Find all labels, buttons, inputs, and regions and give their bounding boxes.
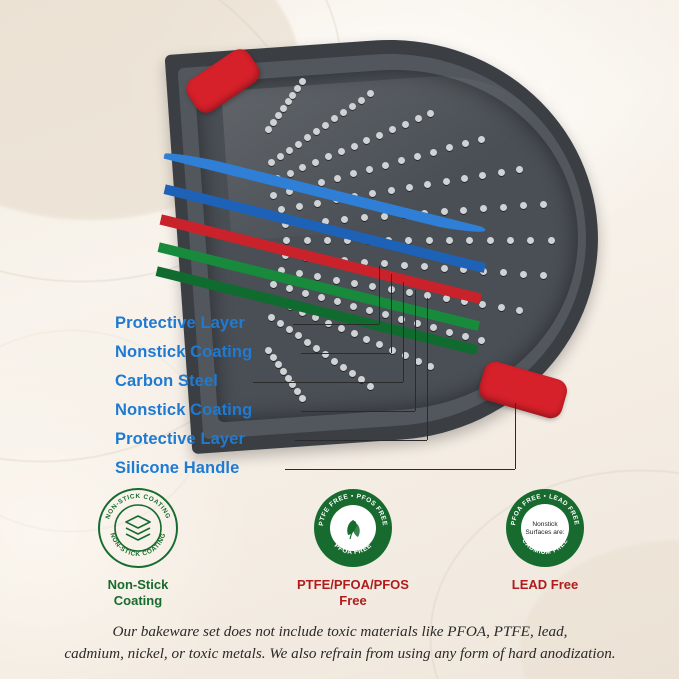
perforation-hole (478, 136, 485, 143)
badge-caption-ptfe-pfoa-pfos-free: PTFE/PFOA/PFOS Free (258, 577, 448, 610)
disclaimer-line2: cadmium, nickel, or toxic metals. We als… (64, 645, 615, 662)
perforation-hole (540, 201, 547, 208)
perforation-hole (466, 237, 473, 244)
perforation-hole (312, 159, 319, 166)
callout-carbon-steel: Carbon Steel (115, 372, 218, 391)
perforation-hole (401, 262, 408, 269)
perforation-hole (507, 237, 514, 244)
svg-text:NON-STICK COATING: NON-STICK COATING (109, 532, 168, 558)
perforation-hole (376, 132, 383, 139)
disclaimer-text: Our bakeware set does not include toxic … (40, 621, 640, 665)
perforation-hole (304, 134, 311, 141)
perforation-hole (275, 112, 282, 119)
perforation-hole (405, 237, 412, 244)
perforation-hole (322, 122, 329, 129)
perforation-hole (351, 143, 358, 150)
perforation-hole (421, 263, 428, 270)
leader-line-5 (295, 440, 427, 441)
leader-riser-5 (427, 298, 428, 440)
perforation-hole (287, 170, 294, 177)
leader-riser-2 (391, 274, 392, 353)
seal-ptfe-pfoa-pfos-free: PTFE FREE • PFOS FREE PFOA FREE (312, 487, 394, 569)
perforation-hole (382, 162, 389, 169)
badge-caption-line1: PTFE/PFOA/PFOS (297, 577, 409, 592)
seal-lead-free: PFOA FREE • LEAD FREE CADMIUM FREE Nonst… (504, 487, 586, 569)
perforation-hole (268, 159, 275, 166)
lead-free-icon: PFOA FREE • LEAD FREE CADMIUM FREE Nonst… (504, 487, 586, 569)
perforation-hole (487, 237, 494, 244)
perforation-hole (314, 200, 321, 207)
leader-riser-6 (515, 403, 516, 469)
perforation-hole (324, 237, 331, 244)
badge-non-stick-coating: NON-STICK COATING NON-STICK COATING Non-… (43, 487, 233, 610)
leaves-icon: PTFE FREE • PFOS FREE PFOA FREE (312, 487, 394, 569)
perforation-hole (278, 206, 285, 213)
perforation-hole (369, 283, 376, 290)
perforation-hole (415, 115, 422, 122)
badge-caption-line2: Free (339, 593, 366, 608)
leader-riser-3 (403, 282, 404, 382)
perforation-hole (406, 289, 413, 296)
stacked-layers-icon: NON-STICK COATING NON-STICK COATING (97, 487, 179, 569)
leader-riser-1 (379, 266, 380, 324)
perforation-hole (520, 202, 527, 209)
perforation-hole (441, 208, 448, 215)
perforation-hole (426, 237, 433, 244)
badge-caption-non-stick-coating: Non-Stick Coating (43, 577, 233, 610)
perforation-hole (351, 280, 358, 287)
perforation-hole (270, 119, 277, 126)
badge-caption-line1: Non-Stick (108, 577, 169, 592)
perforation-hole (286, 147, 293, 154)
certification-badges: NON-STICK COATING NON-STICK COATING Non-… (0, 487, 679, 622)
leader-line-2 (301, 353, 391, 354)
perforation-hole (294, 85, 301, 92)
callout-protective-layer-top: Protective Layer (115, 314, 245, 333)
leader-line-4 (301, 411, 415, 412)
perforation-hole (299, 78, 306, 85)
perforation-hole (338, 148, 345, 155)
leader-line-1 (293, 324, 379, 325)
perforation-hole (296, 203, 303, 210)
perforation-hole (441, 265, 448, 272)
perforation-hole (334, 175, 341, 182)
perforation-hole (280, 105, 287, 112)
callout-silicone-handle: Silicone Handle (115, 459, 239, 478)
perforation-hole (277, 153, 284, 160)
perforation-hole (548, 237, 555, 244)
perforation-hole (462, 140, 469, 147)
perforation-hole (527, 237, 534, 244)
perforation-hole (289, 92, 296, 99)
perforation-hole (313, 128, 320, 135)
leader-riser-4 (415, 290, 416, 411)
perforation-hole (402, 121, 409, 128)
callout-nonstick-coating-bottom: Nonstick Coating (115, 401, 252, 420)
perforation-hole (446, 237, 453, 244)
perforation-hole (333, 277, 340, 284)
callout-nonstick-coating-top: Nonstick Coating (115, 343, 252, 362)
callout-protective-layer-bottom: Protective Layer (115, 430, 245, 449)
badge-lead-free: PFOA FREE • LEAD FREE CADMIUM FREE Nonst… (450, 487, 640, 593)
perforation-hole (500, 204, 507, 211)
perforation-hole (340, 109, 347, 116)
perforation-hole (430, 149, 437, 156)
seal-non-stick-coating: NON-STICK COATING NON-STICK COATING (97, 487, 179, 569)
badge-caption-line2: Coating (114, 593, 162, 608)
layer-callout-list: Protective Layer Nonstick Coating Carbon… (115, 308, 545, 468)
perforation-hole (520, 271, 527, 278)
perforation-hole (358, 97, 365, 104)
product-infographic: Protective Layer Nonstick Coating Carbon… (0, 0, 679, 679)
badge-ptfe-pfoa-pfos-free: PTFE FREE • PFOS FREE PFOA FREE PTFE/PFO… (258, 487, 448, 610)
seal-inner-text-line2: Surfaces are: (525, 529, 564, 536)
disclaimer-line1: Our bakeware set does not include toxic … (113, 623, 568, 640)
perforation-hole (349, 103, 356, 110)
leader-line-3 (253, 382, 403, 383)
leader-line-6 (285, 469, 515, 470)
badge-caption-lead-free: LEAD Free (450, 577, 640, 593)
perforation-hole (304, 237, 311, 244)
perforation-hole (295, 141, 302, 148)
badge-caption-line1: LEAD Free (512, 577, 578, 592)
perforation-hole (285, 98, 292, 105)
seal-inner-text-line1: Nonstick (532, 521, 558, 528)
perforation-hole (479, 301, 486, 308)
